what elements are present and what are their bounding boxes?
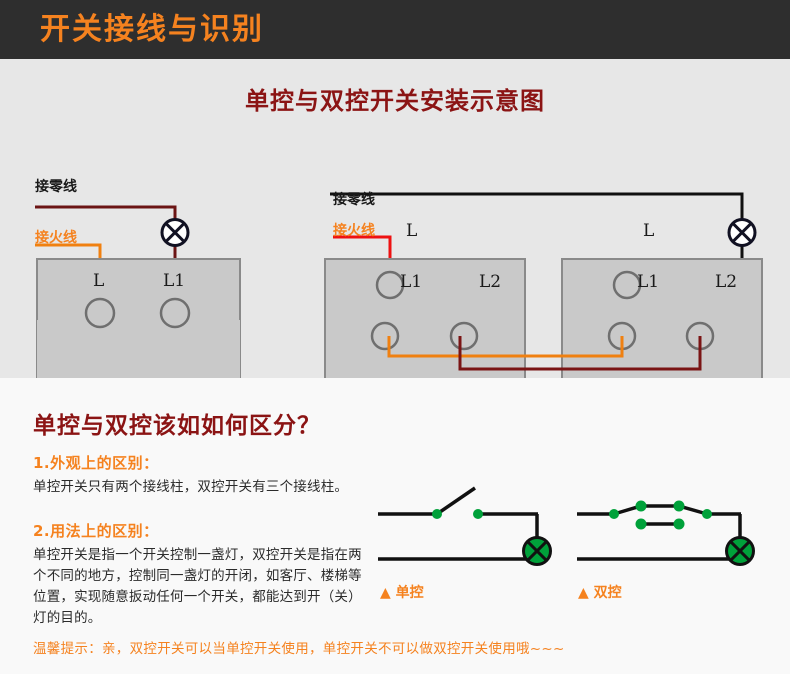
header-bar: 开关接线与识别: [0, 0, 790, 59]
schematic-svg: [0, 378, 790, 674]
single-lamp-icon: [162, 220, 188, 246]
schematic-double-caption: ▲ 双控: [578, 582, 622, 602]
schematic-single: [378, 488, 551, 565]
switch-b-terminal-label-L2: L2: [715, 272, 737, 292]
explanation-section: 单控与双控该如如何区分？ 1.外观上的区别： 单控开关只有两个接线柱，双控开关有…: [0, 378, 790, 674]
switch-a-terminal-label-L: L: [406, 221, 417, 241]
switch-b-terminal-label-L: L: [643, 221, 654, 241]
single-live-label: 接火线: [35, 227, 77, 247]
switch-b-terminal-label-L1: L1: [637, 272, 659, 292]
wiring-diagram-section: 单控与双控开关安装示意图: [0, 59, 790, 378]
double-lamp-icon: [729, 220, 755, 246]
page-title: 开关接线与识别: [40, 11, 264, 49]
schematic-single-caption: ▲ 单控: [380, 582, 424, 602]
page-root: 开关接线与识别 单控与双控开关安装示意图: [0, 0, 790, 674]
double-neutral-label: 接零线: [333, 189, 375, 209]
switch-a-terminal-label-L2: L2: [479, 272, 501, 292]
single-neutral-label: 接零线: [35, 176, 77, 196]
double-live-label: 接火线: [333, 220, 375, 240]
single-terminal-label-L1: L1: [163, 271, 185, 291]
schematic-double: [577, 501, 754, 566]
wiring-diagram-svg: [0, 59, 790, 378]
switch-a-terminal-label-L1: L1: [400, 272, 422, 292]
single-terminal-label-L: L: [93, 271, 104, 291]
single-switch-body: [37, 259, 240, 378]
